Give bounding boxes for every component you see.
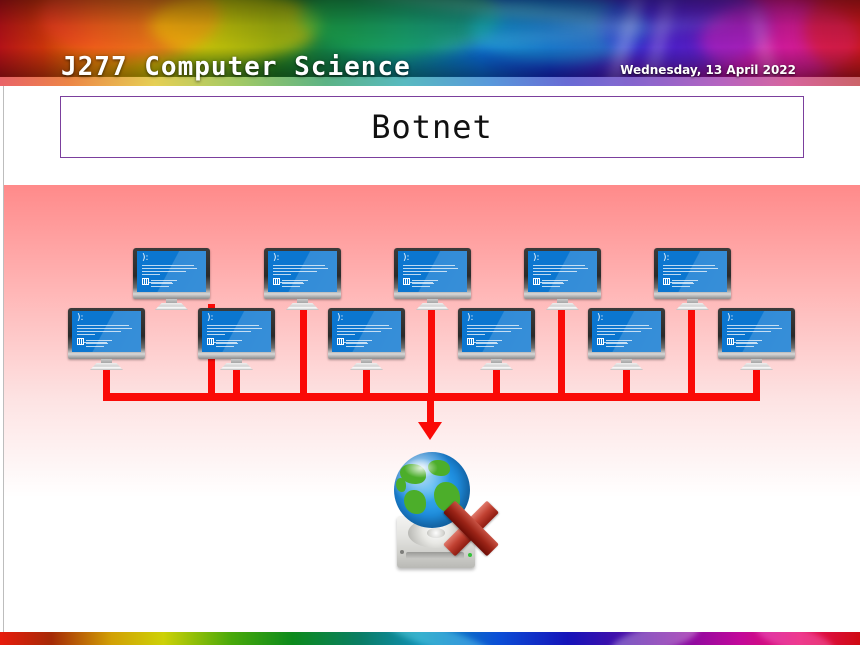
screen-gloss [592, 311, 661, 352]
globe-landmass [396, 478, 406, 492]
monitor-stand-base [220, 363, 253, 370]
monitor-bezel: :( [588, 308, 665, 359]
screen-gloss [722, 311, 791, 352]
slide-date: Wednesday, 13 April 2022 [620, 63, 796, 77]
bot-pc-9[interactable]: :( [458, 308, 535, 370]
monitor-stand-base [350, 363, 383, 370]
globe-highlight [404, 458, 438, 478]
bot-pc-11[interactable]: :( [718, 308, 795, 370]
footer-streak-1 [380, 632, 501, 645]
monitor-stand-base [610, 363, 643, 370]
link-line-vertical [558, 304, 565, 401]
globe-landmass [404, 490, 426, 514]
footer-streak-2 [608, 632, 702, 645]
monitor-stand-base [740, 363, 773, 370]
monitor-bezel: :( [68, 308, 145, 359]
monitor-screen-bsod: :( [592, 311, 661, 352]
screen-gloss [398, 251, 467, 292]
monitor-screen-bsod: :( [137, 251, 206, 292]
monitor-bezel: :( [654, 248, 731, 299]
screen-gloss [462, 311, 531, 352]
monitor-stand-base [90, 363, 123, 370]
bot-pc-6[interactable]: :( [68, 308, 145, 370]
attack-arrow-head [418, 422, 442, 440]
screen-gloss [202, 311, 271, 352]
monitor-bezel: :( [394, 248, 471, 299]
bot-pc-3[interactable]: :( [394, 248, 471, 310]
screen-gloss [658, 251, 727, 292]
monitor-bezel: :( [133, 248, 210, 299]
bot-pc-7[interactable]: :( [198, 308, 275, 370]
monitor-screen-bsod: :( [528, 251, 597, 292]
server-screw-dot [400, 550, 404, 554]
bot-pc-10[interactable]: :( [588, 308, 665, 370]
course-title: J277 Computer Science [61, 52, 411, 82]
monitor-stand-base [676, 303, 709, 310]
monitor-screen-bsod: :( [72, 311, 141, 352]
link-line-vertical [688, 304, 695, 401]
bot-pc-8[interactable]: :( [328, 308, 405, 370]
monitor-bezel: :( [458, 308, 535, 359]
link-line-vertical [428, 304, 435, 401]
monitor-bezel: :( [524, 248, 601, 299]
monitor-screen-bsod: :( [398, 251, 467, 292]
bot-pc-4[interactable]: :( [524, 248, 601, 310]
monitor-stand-base [480, 363, 513, 370]
monitor-screen-bsod: :( [332, 311, 401, 352]
monitor-stand-base [155, 303, 188, 310]
monitor-stand-base [286, 303, 319, 310]
header-banner: J277 Computer Science Wednesday, 13 Apri… [0, 0, 860, 86]
monitor-screen-bsod: :( [462, 311, 531, 352]
bot-pc-1[interactable]: :( [133, 248, 210, 310]
server-status-led [468, 553, 472, 557]
monitor-stand-base [546, 303, 579, 310]
screen-gloss [528, 251, 597, 292]
slide-title: Botnet [371, 108, 493, 146]
server-disc-hub [427, 528, 445, 538]
screen-gloss [332, 311, 401, 352]
link-line-vertical [300, 304, 307, 401]
monitor-stand-base [416, 303, 449, 310]
footer-streak-3 [753, 632, 837, 645]
bot-pc-2[interactable]: :( [264, 248, 341, 310]
slide-content-pane: :(:(:(:(:(:(:(:(:(:(:( [4, 185, 860, 632]
target-server[interactable] [392, 452, 522, 577]
monitor-screen-bsod: :( [658, 251, 727, 292]
screen-gloss [268, 251, 337, 292]
slide-title-box: Botnet [60, 96, 804, 158]
attack-arrow-shaft [427, 393, 434, 422]
monitor-screen-bsod: :( [722, 311, 791, 352]
monitor-bezel: :( [198, 308, 275, 359]
monitor-screen-bsod: :( [268, 251, 337, 292]
monitor-bezel: :( [718, 308, 795, 359]
bot-pc-5[interactable]: :( [654, 248, 731, 310]
screen-gloss [72, 311, 141, 352]
monitor-screen-bsod: :( [202, 311, 271, 352]
screen-gloss [137, 251, 206, 292]
monitor-bezel: :( [328, 308, 405, 359]
monitor-bezel: :( [264, 248, 341, 299]
footer-rainbow-bar [0, 632, 860, 645]
